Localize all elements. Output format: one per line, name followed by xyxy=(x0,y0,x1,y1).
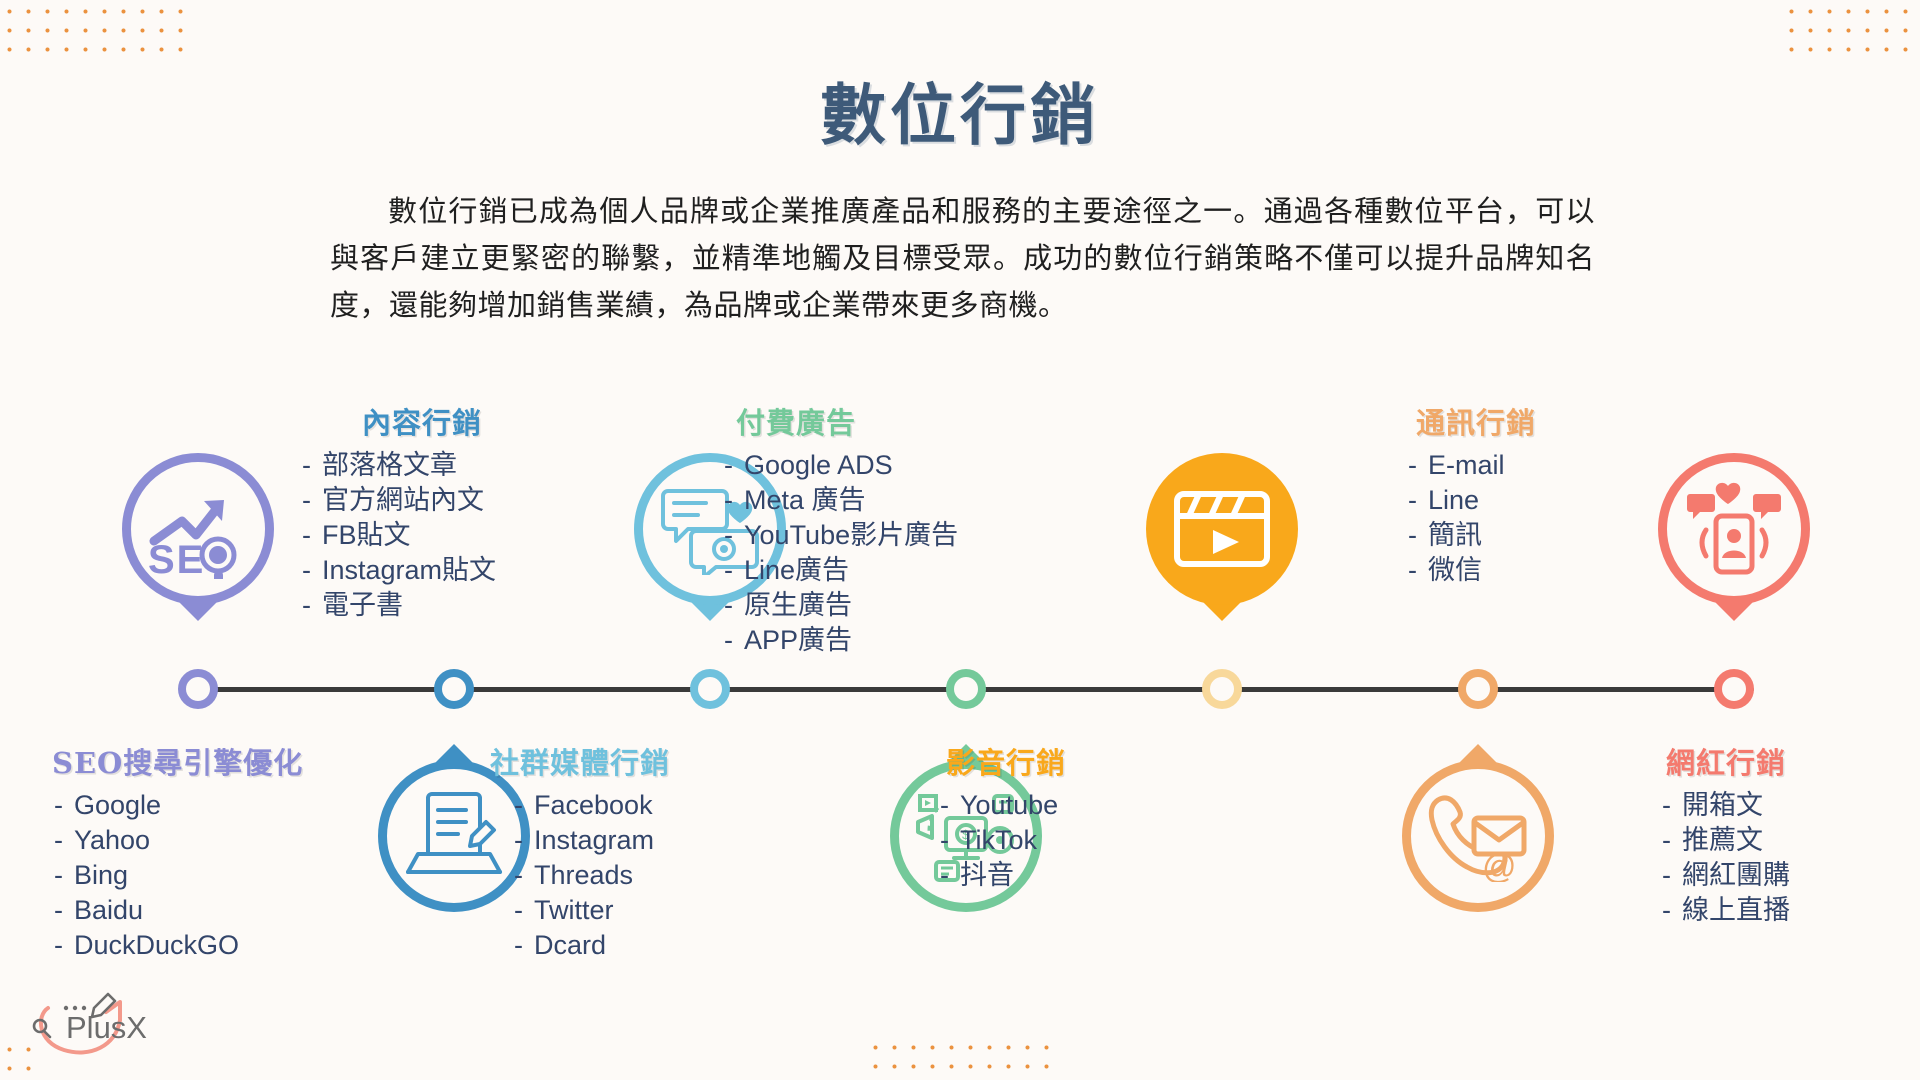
list-item: 電子書 xyxy=(300,588,496,623)
list-item: 網紅團購 xyxy=(1660,858,1790,893)
label-paid-ads-heading: 付費廣告 xyxy=(722,400,958,442)
list-item: 微信 xyxy=(1406,553,1536,588)
label-messaging: 通訊行銷 E-mail Line 簡訊 微信 xyxy=(1406,400,1536,588)
list-item: Facebook xyxy=(512,788,670,823)
list-item: 推薦文 xyxy=(1660,823,1790,858)
timeline-node-seo[interactable] xyxy=(178,669,218,709)
svg-text:@: @ xyxy=(1482,848,1517,882)
list-item: Google xyxy=(52,788,303,823)
phone-envelope-at-icon: @ xyxy=(1402,760,1554,912)
list-item: Line xyxy=(1406,483,1536,518)
list-item: DuckDuckGO xyxy=(52,928,303,963)
label-seo-heading: SEO搜尋引擎優化 xyxy=(52,740,303,782)
svg-text:SE: SE xyxy=(148,538,205,579)
label-video-list: Youtube TikTok 抖音 xyxy=(938,788,1066,893)
label-influencer: 網紅行銷 開箱文 推薦文 網紅團購 線上直播 xyxy=(1660,740,1790,928)
list-item: 開箱文 xyxy=(1660,788,1790,823)
list-item: Instagram xyxy=(512,823,670,858)
plusx-logo[interactable]: PlusX xyxy=(18,986,168,1066)
label-video-heading: 影音行銷 xyxy=(938,740,1066,782)
mobile-live-stream-icon xyxy=(1658,453,1810,605)
timeline-node-content[interactable] xyxy=(434,669,474,709)
pin-video[interactable] xyxy=(1146,453,1298,605)
list-item: E-mail xyxy=(1406,448,1536,483)
list-item: 部落格文章 xyxy=(300,448,496,483)
label-influencer-list: 開箱文 推薦文 網紅團購 線上直播 xyxy=(1660,788,1790,928)
list-item: 原生廣告 xyxy=(722,588,958,623)
label-messaging-list: E-mail Line 簡訊 微信 xyxy=(1406,448,1536,588)
list-item: APP廣告 xyxy=(722,623,958,658)
list-item: 官方網站內文 xyxy=(300,483,496,518)
label-messaging-heading: 通訊行銷 xyxy=(1406,400,1536,442)
plusx-logo-text: PlusX xyxy=(66,1010,147,1046)
label-social-list: Facebook Instagram Threads Twitter Dcard xyxy=(490,788,670,963)
label-seo-list: Google Yahoo Bing Baidu DuckDuckGO xyxy=(52,788,303,963)
label-paid-ads-list: Google ADS Meta 廣告 YouTube影片廣告 Line廣告 原生… xyxy=(722,448,958,658)
list-item: 線上直播 xyxy=(1660,893,1790,928)
list-item: FB貼文 xyxy=(300,518,496,553)
list-item: Meta 廣告 xyxy=(722,483,958,518)
label-social-heading: 社群媒體行銷 xyxy=(490,740,670,782)
label-seo: SEO搜尋引擎優化 Google Yahoo Bing Baidu DuckDu… xyxy=(52,740,303,963)
list-item: YouTube影片廣告 xyxy=(722,518,958,553)
timeline-node-influencer[interactable] xyxy=(1714,669,1754,709)
pin-influencer[interactable] xyxy=(1658,453,1810,605)
page-title: 數位行銷 xyxy=(0,62,1920,158)
dot-pattern-top-right xyxy=(1782,2,1920,64)
list-item: Threads xyxy=(512,858,670,893)
video-player-clapperboard-icon xyxy=(1146,453,1298,605)
label-influencer-heading: 網紅行銷 xyxy=(1660,740,1790,782)
dot-pattern-top-left xyxy=(0,2,186,64)
label-content: 內容行銷 部落格文章 官方網站內文 FB貼文 Instagram貼文 電子書 xyxy=(300,400,496,623)
list-item: Line廣告 xyxy=(722,553,958,588)
pin-seo[interactable]: SE xyxy=(122,453,274,605)
pin-messaging[interactable]: @ xyxy=(1402,760,1554,912)
timeline-node-messaging[interactable] xyxy=(1458,669,1498,709)
list-item: 簡訊 xyxy=(1406,518,1536,553)
timeline-node-paid-ads[interactable] xyxy=(946,669,986,709)
list-item: Dcard xyxy=(512,928,670,963)
list-item: Yahoo xyxy=(52,823,303,858)
list-item: TikTok xyxy=(938,823,1066,858)
seo-growth-magnifier-icon: SE xyxy=(122,453,274,605)
label-video: 影音行銷 Youtube TikTok 抖音 xyxy=(938,740,1066,893)
list-item: Bing xyxy=(52,858,303,893)
list-item: Instagram貼文 xyxy=(300,553,496,588)
label-content-heading: 內容行銷 xyxy=(300,400,496,442)
intro-paragraph: 數位行銷已成為個人品牌或企業推廣產品和服務的主要途徑之一。通過各種數位平台，可以… xyxy=(330,188,1595,329)
list-item: Twitter xyxy=(512,893,670,928)
list-item: Youtube xyxy=(938,788,1066,823)
list-item: Google ADS xyxy=(722,448,958,483)
timeline-node-video[interactable] xyxy=(1202,669,1242,709)
list-item: 抖音 xyxy=(938,858,1066,893)
dot-pattern-bottom-center xyxy=(866,1038,1058,1078)
label-social: 社群媒體行銷 Facebook Instagram Threads Twitte… xyxy=(490,740,670,963)
label-content-list: 部落格文章 官方網站內文 FB貼文 Instagram貼文 電子書 xyxy=(300,448,496,623)
list-item: Baidu xyxy=(52,893,303,928)
timeline-node-social[interactable] xyxy=(690,669,730,709)
label-paid-ads: 付費廣告 Google ADS Meta 廣告 YouTube影片廣告 Line… xyxy=(722,400,958,658)
